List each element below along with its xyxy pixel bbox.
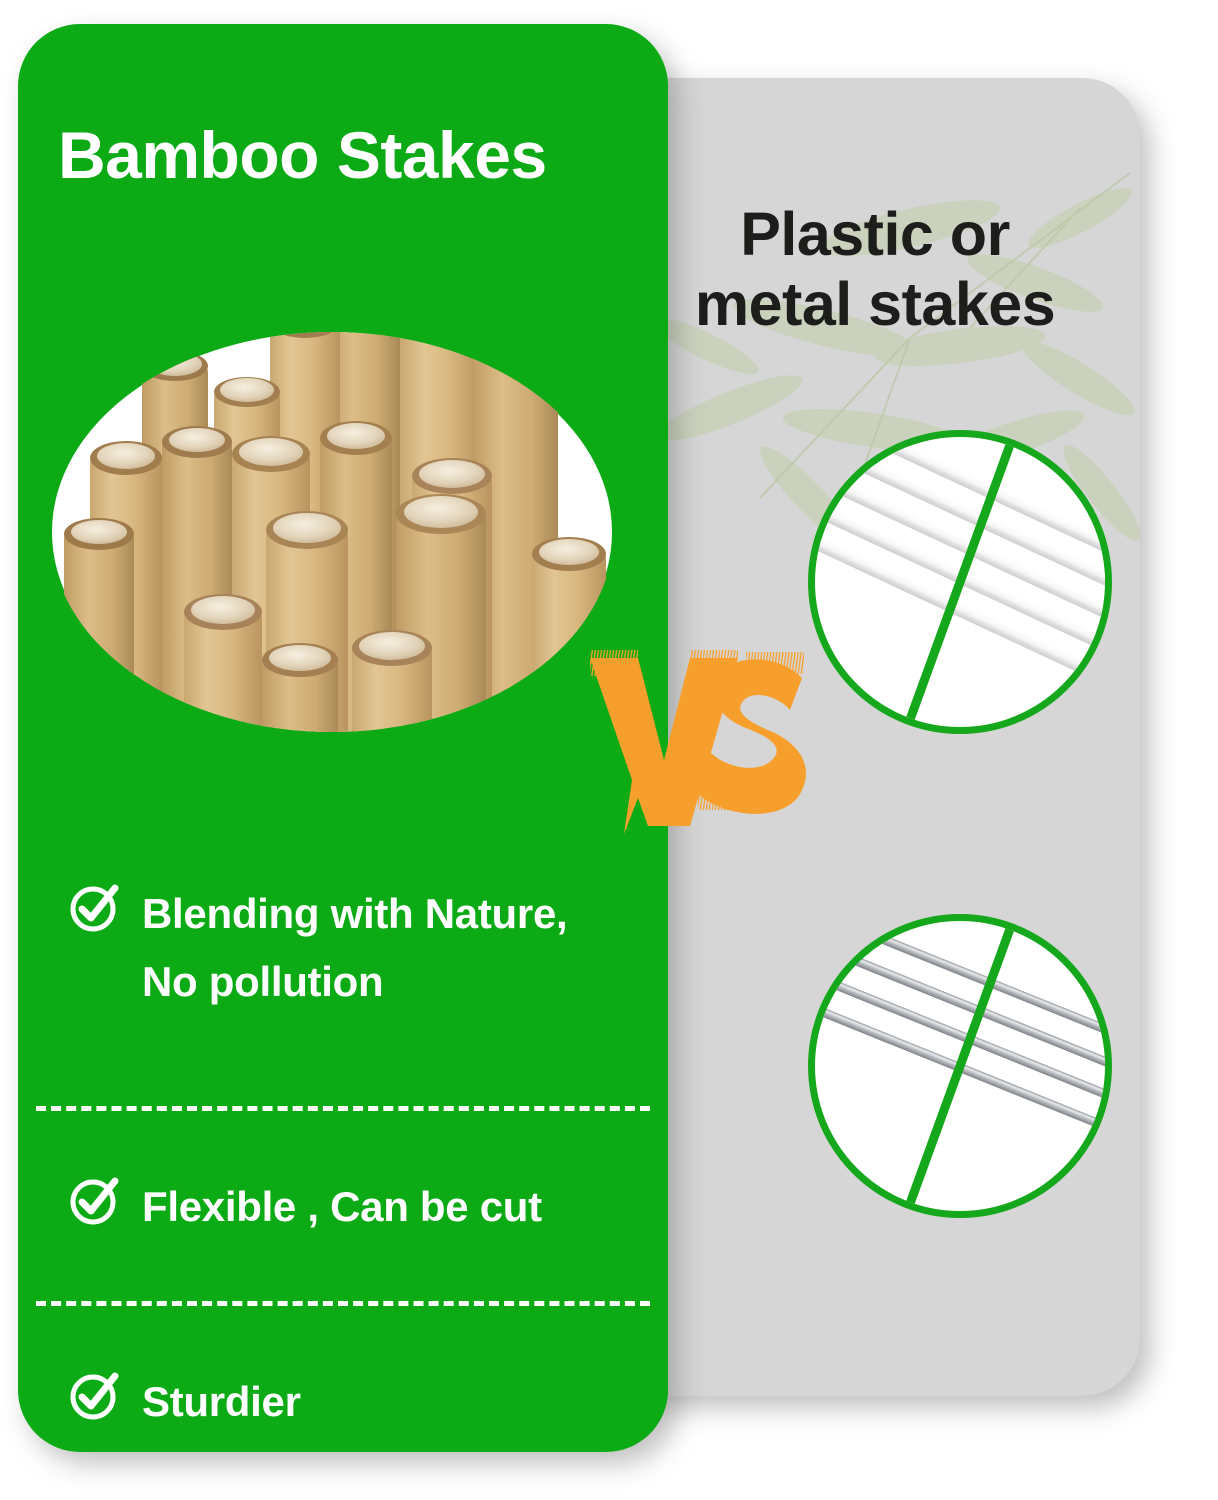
prohibition-circle-icon-plastic <box>808 430 1112 734</box>
feature-label: Sturdier <box>142 1368 301 1436</box>
feature-item-0: Blending with Nature, No pollution <box>18 880 668 1016</box>
check-circle-icon <box>68 882 120 934</box>
check-circle-icon <box>68 1370 120 1422</box>
infographic-canvas: Plastic or metal stakes <box>0 0 1218 1500</box>
check-circle-icon <box>68 1175 120 1227</box>
prohibition-circle-icon-metal <box>808 914 1112 1218</box>
right-title-line-2: metal stakes <box>695 270 1055 338</box>
versus-badge <box>586 648 808 840</box>
feature-item-2: Sturdier <box>18 1368 668 1436</box>
right-panel-title: Plastic or metal stakes <box>610 200 1140 339</box>
bamboo-bundle-illustration <box>34 252 654 752</box>
feature-list: Blending with Nature, No pollution Flexi… <box>18 880 668 1436</box>
versus-icon <box>586 648 808 840</box>
feature-label: Blending with Nature, No pollution <box>142 880 634 1016</box>
comparison-panel-left: Bamboo Stakes <box>18 24 668 1452</box>
right-title-line-1: Plastic or <box>740 200 1010 268</box>
feature-item-1: Flexible , Can be cut <box>18 1173 668 1241</box>
bamboo-stakes-photo <box>34 252 654 752</box>
page-title: Bamboo Stakes <box>58 117 547 193</box>
feature-label: Flexible , Can be cut <box>142 1173 542 1241</box>
